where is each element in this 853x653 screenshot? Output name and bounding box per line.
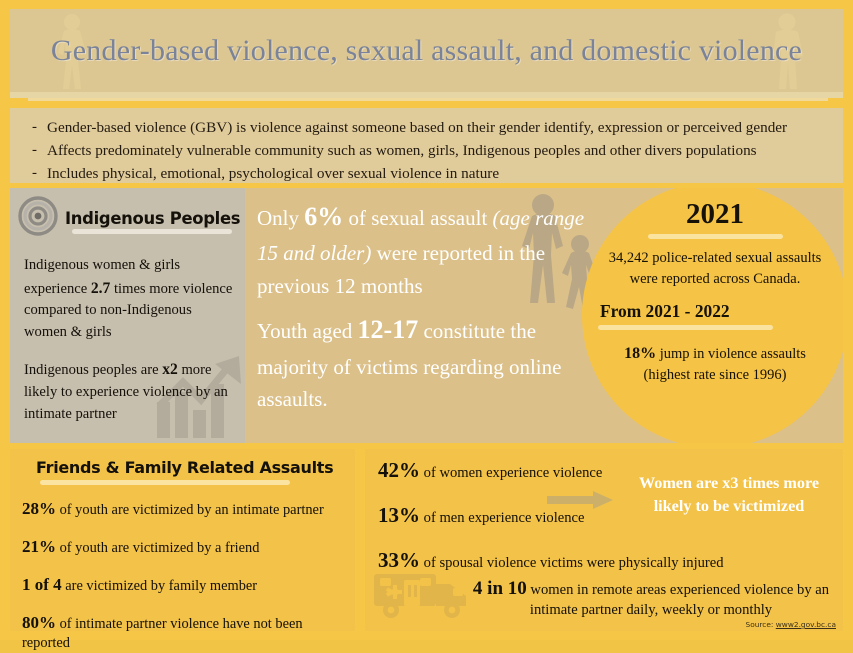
- bullet-marker: -: [32, 116, 37, 139]
- stat-text: of youth are victimized by an intimate p…: [56, 502, 324, 518]
- center-stat-2: Youth aged 12-17 constitute the majority…: [257, 310, 587, 415]
- stat-value: 18%: [624, 345, 656, 362]
- stat-text: of youth are victimized by a friend: [56, 540, 259, 556]
- intro-bullets-list: - Gender-based violence (GBV) is violenc…: [10, 116, 843, 185]
- stat-value: x2: [162, 361, 178, 378]
- indigenous-stat-2: Indigenous peoples are x2 more likely to…: [24, 358, 235, 425]
- middle-section: Indigenous Peoples Indigenous women & gi…: [10, 188, 843, 443]
- stat-mid: of sexual assault: [343, 206, 492, 230]
- bullet-marker: -: [32, 139, 37, 162]
- header-banner: Gender-based violence, sexual assault, a…: [10, 9, 843, 92]
- stat-value: 4 in 10: [473, 578, 527, 599]
- page-title: Gender-based violence, sexual assault, a…: [10, 9, 843, 92]
- list-item: 1 of 4 are victimized by family member: [22, 574, 345, 596]
- stat-value: 1 of 4: [22, 575, 62, 594]
- stat-text: are victimized by family member: [62, 578, 257, 594]
- list-item: - Affects predominately vulnerable commu…: [10, 139, 843, 162]
- stat-value: 2.7: [91, 280, 111, 297]
- source-credit: Source: www2.gov.bc.ca: [746, 620, 836, 629]
- source-label: Source:: [746, 620, 776, 629]
- stat-prefix: Only: [257, 206, 304, 230]
- list-item: - Gender-based violence (GBV) is violenc…: [10, 116, 843, 139]
- indigenous-panel-body: Indigenous women & girls experience 2.7 …: [10, 241, 245, 425]
- friends-family-title: Friends & Family Related Assaults: [36, 458, 345, 477]
- circle-range-underline: [598, 325, 773, 330]
- bullet-text: Gender-based violence (GBV) is violence …: [47, 116, 787, 139]
- list-item: - Includes physical, emotional, psycholo…: [10, 162, 843, 185]
- stat-value: 28%: [22, 499, 56, 518]
- friends-family-title-underline: [40, 480, 290, 485]
- indigenous-peoples-panel: Indigenous Peoples Indigenous women & gi…: [10, 188, 245, 443]
- center-stat-1: Only 6% of sexual assault (age range 15 …: [257, 197, 587, 302]
- general-statistics-panel: 42% of women experience violence 13% of …: [365, 449, 843, 631]
- bullseye-target-icon: [18, 196, 58, 241]
- stat-prefix: Indigenous peoples are: [24, 362, 162, 378]
- bullet-text: Includes physical, emotional, psychologi…: [47, 162, 499, 185]
- bullet-marker: -: [32, 162, 37, 185]
- stat-women-violence: 42% of women experience violence: [378, 458, 602, 483]
- stat-value: 6%: [304, 202, 343, 231]
- circle-stat-jump: 18% jump in violence assaults (highest r…: [604, 342, 826, 386]
- stat-prefix: Youth aged: [257, 319, 358, 343]
- indigenous-title-underline: [72, 229, 232, 234]
- bottom-section: Friends & Family Related Assaults 28% of…: [10, 449, 843, 631]
- stat-remote-areas: 4 in 10 women in remote areas experience…: [465, 576, 837, 621]
- list-item: 80% of intimate partner violence have no…: [22, 612, 345, 653]
- stat-value: 42%: [378, 458, 420, 482]
- right-arrow-icon: [547, 489, 615, 516]
- circle-stat-assaults: 34,242 police-related sexual assaults we…: [604, 248, 826, 289]
- stat-text: of women experience violence: [420, 465, 602, 481]
- stat-value: 12-17: [358, 315, 419, 344]
- bullet-text: Affects predominately vulnerable communi…: [47, 139, 757, 162]
- source-url-link[interactable]: www2.gov.bc.ca: [776, 620, 836, 629]
- list-item: 28% of youth are victimized by an intima…: [22, 498, 345, 520]
- header-rule-secondary: [28, 98, 828, 101]
- indigenous-stat-1: Indigenous women & girls experience 2.7 …: [24, 255, 235, 343]
- indigenous-panel-title: Indigenous Peoples: [65, 209, 240, 228]
- stat-text: of intimate partner violence have not be…: [22, 616, 303, 651]
- center-statistics-panel: Only 6% of sexual assault (age range 15 …: [245, 188, 843, 443]
- ambulance-icon: [372, 566, 480, 627]
- stat-value: 13%: [378, 503, 420, 527]
- stat-text: women in remote areas experienced violen…: [527, 582, 829, 618]
- stat-value: 80%: [22, 613, 56, 632]
- infographic-page: Gender-based violence, sexual assault, a…: [0, 0, 853, 640]
- circle-range-label: From 2021 - 2022: [600, 301, 826, 322]
- year-statistics-circle: 2021 34,242 police-related sexual assaul…: [582, 188, 843, 443]
- list-item: 21% of youth are victimized by a friend: [22, 536, 345, 558]
- friends-family-panel: Friends & Family Related Assaults 28% of…: [10, 449, 355, 631]
- stat-suffix: jump in violence assaults (highest rate …: [644, 346, 806, 383]
- circle-year-underline: [648, 234, 783, 239]
- intro-bullets-panel: - Gender-based violence (GBV) is violenc…: [10, 108, 843, 183]
- callout-women-x3: Women are x3 times more likely to be vic…: [623, 472, 835, 519]
- stat-value: 21%: [22, 537, 56, 556]
